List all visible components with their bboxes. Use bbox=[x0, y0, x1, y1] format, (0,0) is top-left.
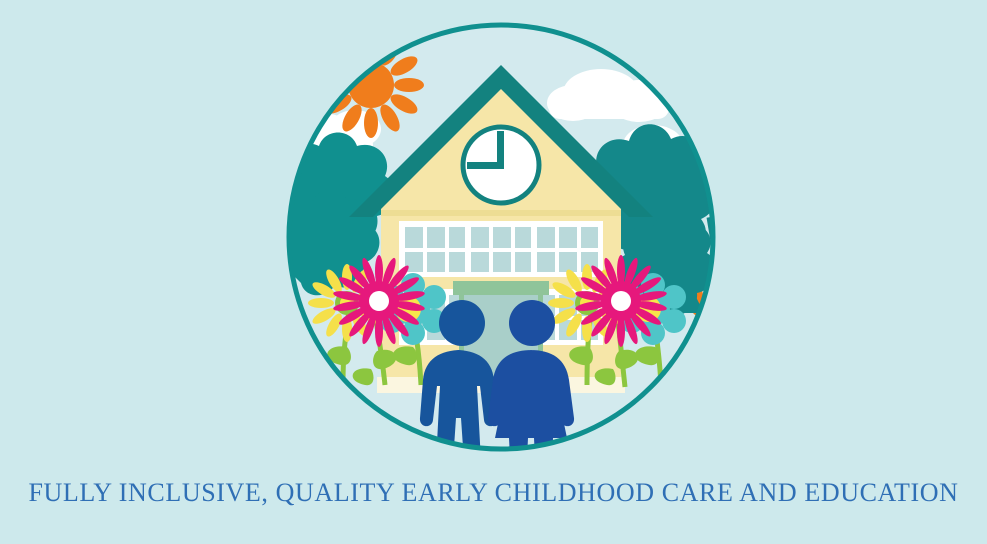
poster-canvas: FULLY INCLUSIVE, QUALITY EARLY CHILDHOOD… bbox=[0, 0, 987, 544]
wall-clock-icon bbox=[463, 127, 539, 203]
school-wall-band bbox=[381, 210, 621, 216]
school-window-upper-center bbox=[465, 221, 537, 277]
school-emblem-svg bbox=[281, 17, 721, 457]
page-tagline: FULLY INCLUSIVE, QUALITY EARLY CHILDHOOD… bbox=[0, 478, 987, 508]
school-window-upper-left bbox=[399, 221, 471, 277]
badge-illustration bbox=[281, 17, 721, 457]
